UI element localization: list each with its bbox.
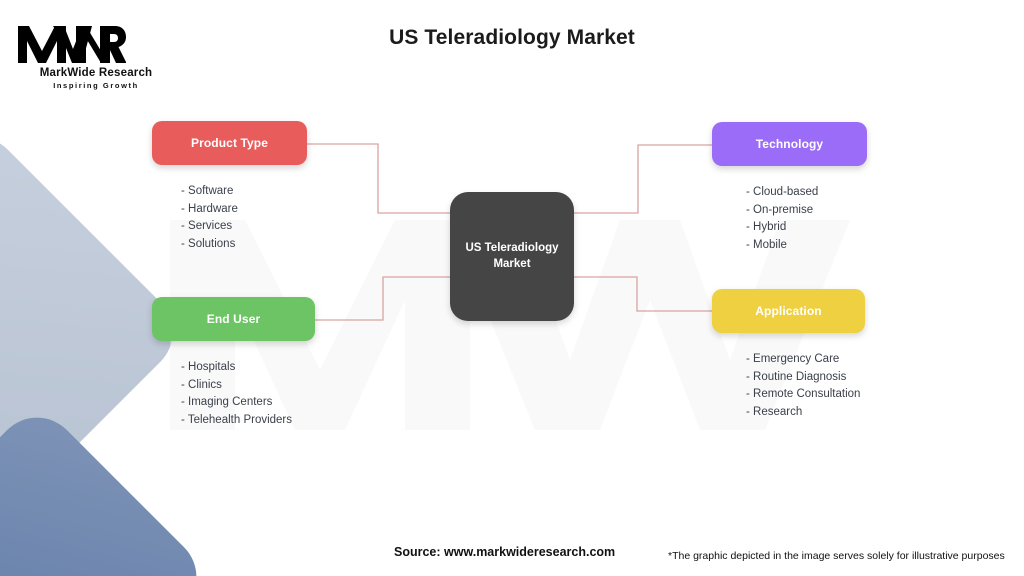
branch-end-user-label: End User — [207, 312, 260, 326]
center-node: US Teleradiology Market — [450, 192, 574, 321]
center-node-label-line1: US Teleradiology — [465, 242, 558, 254]
list-item: - Hardware — [181, 201, 307, 219]
connector-product-type — [307, 144, 450, 213]
disclaimer-text: *The graphic depicted in the image serve… — [668, 550, 1005, 562]
branch-application[interactable]: Application - Emergency Care - Routine D… — [712, 289, 865, 421]
list-item: - Hybrid — [746, 219, 867, 237]
list-item: - On-premise — [746, 202, 867, 220]
center-node-label: US Teleradiology Market — [465, 241, 560, 272]
list-item: - Clinics — [181, 377, 315, 395]
list-item: - Services — [181, 218, 307, 236]
list-item: - Imaging Centers — [181, 394, 315, 412]
list-item: - Hospitals — [181, 359, 315, 377]
list-item: - Mobile — [746, 237, 867, 255]
branch-end-user-header[interactable]: End User — [152, 297, 315, 341]
list-item: - Telehealth Providers — [181, 412, 315, 430]
branch-application-label: Application — [755, 304, 821, 318]
connector-application — [574, 277, 712, 311]
list-item: - Research — [746, 404, 865, 422]
branch-technology-header[interactable]: Technology — [712, 122, 867, 166]
connector-end-user — [315, 277, 450, 320]
branch-product-type-list: - Software - Hardware - Services - Solut… — [152, 183, 307, 253]
branch-product-type-header[interactable]: Product Type — [152, 121, 307, 165]
page-title: US Teleradiology Market — [0, 26, 1024, 50]
list-item: - Routine Diagnosis — [746, 369, 865, 387]
list-item: - Cloud-based — [746, 184, 867, 202]
branch-technology-list: - Cloud-based - On-premise - Hybrid - Mo… — [712, 184, 867, 254]
logo-company-name: MarkWide Research — [16, 67, 176, 79]
branch-technology[interactable]: Technology - Cloud-based - On-premise - … — [712, 122, 867, 254]
logo-tagline: Inspiring Growth — [16, 81, 176, 90]
connector-technology — [574, 145, 712, 213]
list-item: - Software — [181, 183, 307, 201]
list-item: - Remote Consultation — [746, 386, 865, 404]
list-item: - Emergency Care — [746, 351, 865, 369]
list-item: - Solutions — [181, 236, 307, 254]
branch-product-type-label: Product Type — [191, 136, 268, 150]
diagram-canvas: MarkWide Research Inspiring Growth US Te… — [0, 0, 1024, 576]
branch-application-list: - Emergency Care - Routine Diagnosis - R… — [712, 351, 865, 421]
branch-product-type[interactable]: Product Type - Software - Hardware - Ser… — [152, 121, 307, 253]
branch-application-header[interactable]: Application — [712, 289, 865, 333]
branch-technology-label: Technology — [756, 137, 823, 151]
branch-end-user-list: - Hospitals - Clinics - Imaging Centers … — [152, 359, 315, 429]
center-node-label-line2: Market — [493, 258, 530, 270]
source-text: Source: www.markwideresearch.com — [394, 545, 615, 559]
branch-end-user[interactable]: End User - Hospitals - Clinics - Imaging… — [152, 297, 315, 429]
